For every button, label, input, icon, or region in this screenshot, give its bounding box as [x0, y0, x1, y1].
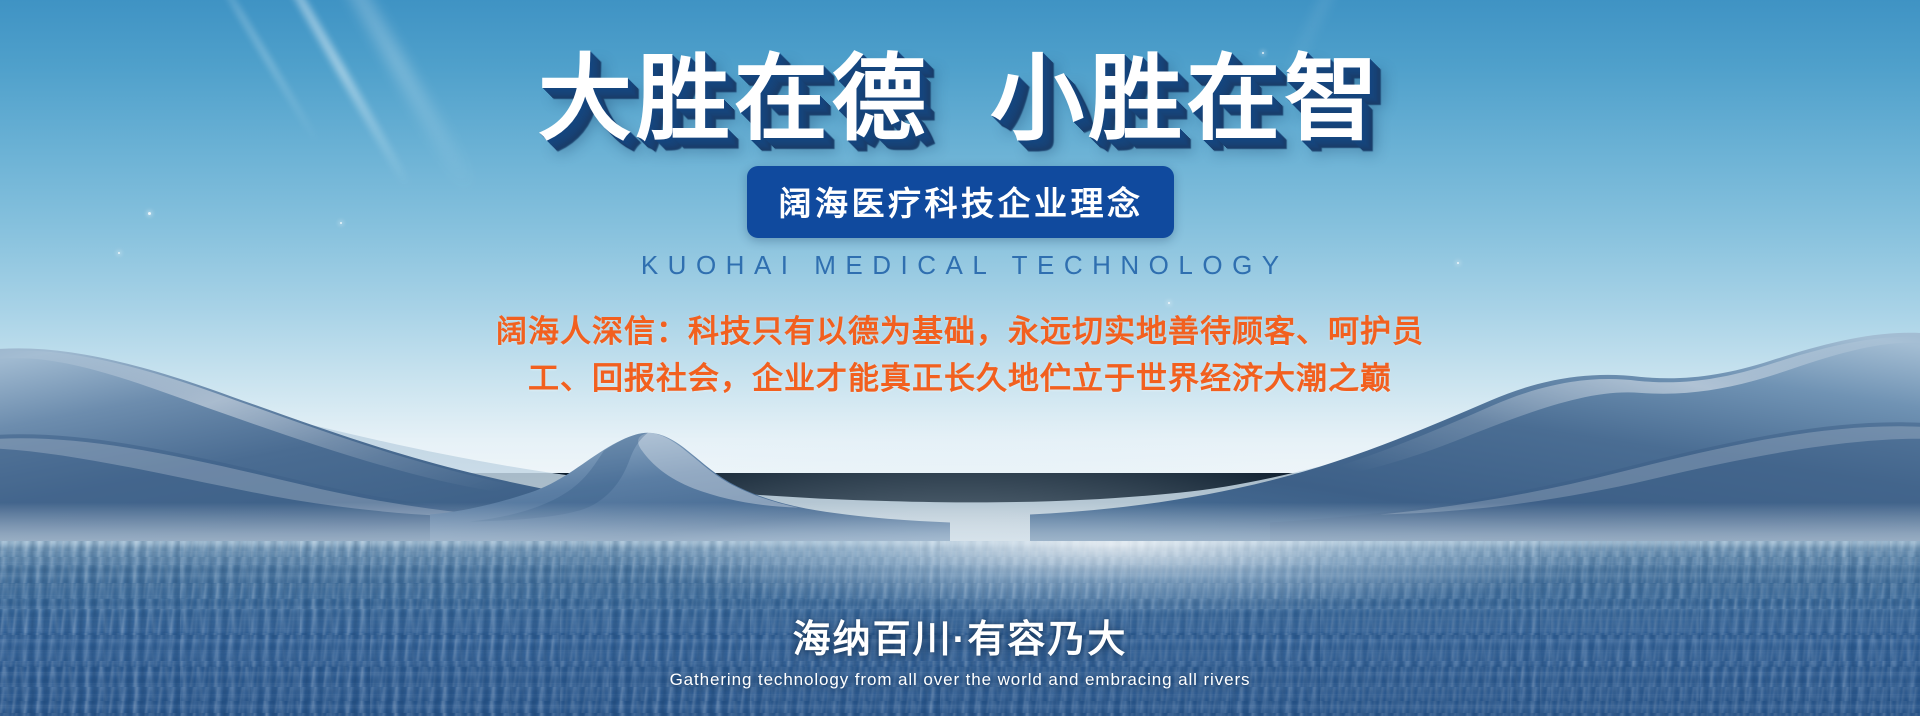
philosophy-badge: 阔海医疗科技企业理念 — [747, 166, 1174, 238]
corporate-philosophy-banner: 大胜在德 小胜在智 阔海医疗科技企业理念 KUOHAI MEDICAL TECH… — [0, 0, 1920, 716]
banner-content: 大胜在德 小胜在智 阔海医疗科技企业理念 KUOHAI MEDICAL TECH… — [0, 0, 1920, 716]
headline-slogan: 大胜在德 小胜在智 — [538, 48, 1382, 150]
philosophy-paragraph: 阔海人深信：科技只有以德为基础，永远切实地善待顾客、呵护员 工、回报社会，企业才… — [496, 308, 1424, 402]
company-name-english: KUOHAI MEDICAL TECHNOLOGY — [631, 250, 1288, 281]
